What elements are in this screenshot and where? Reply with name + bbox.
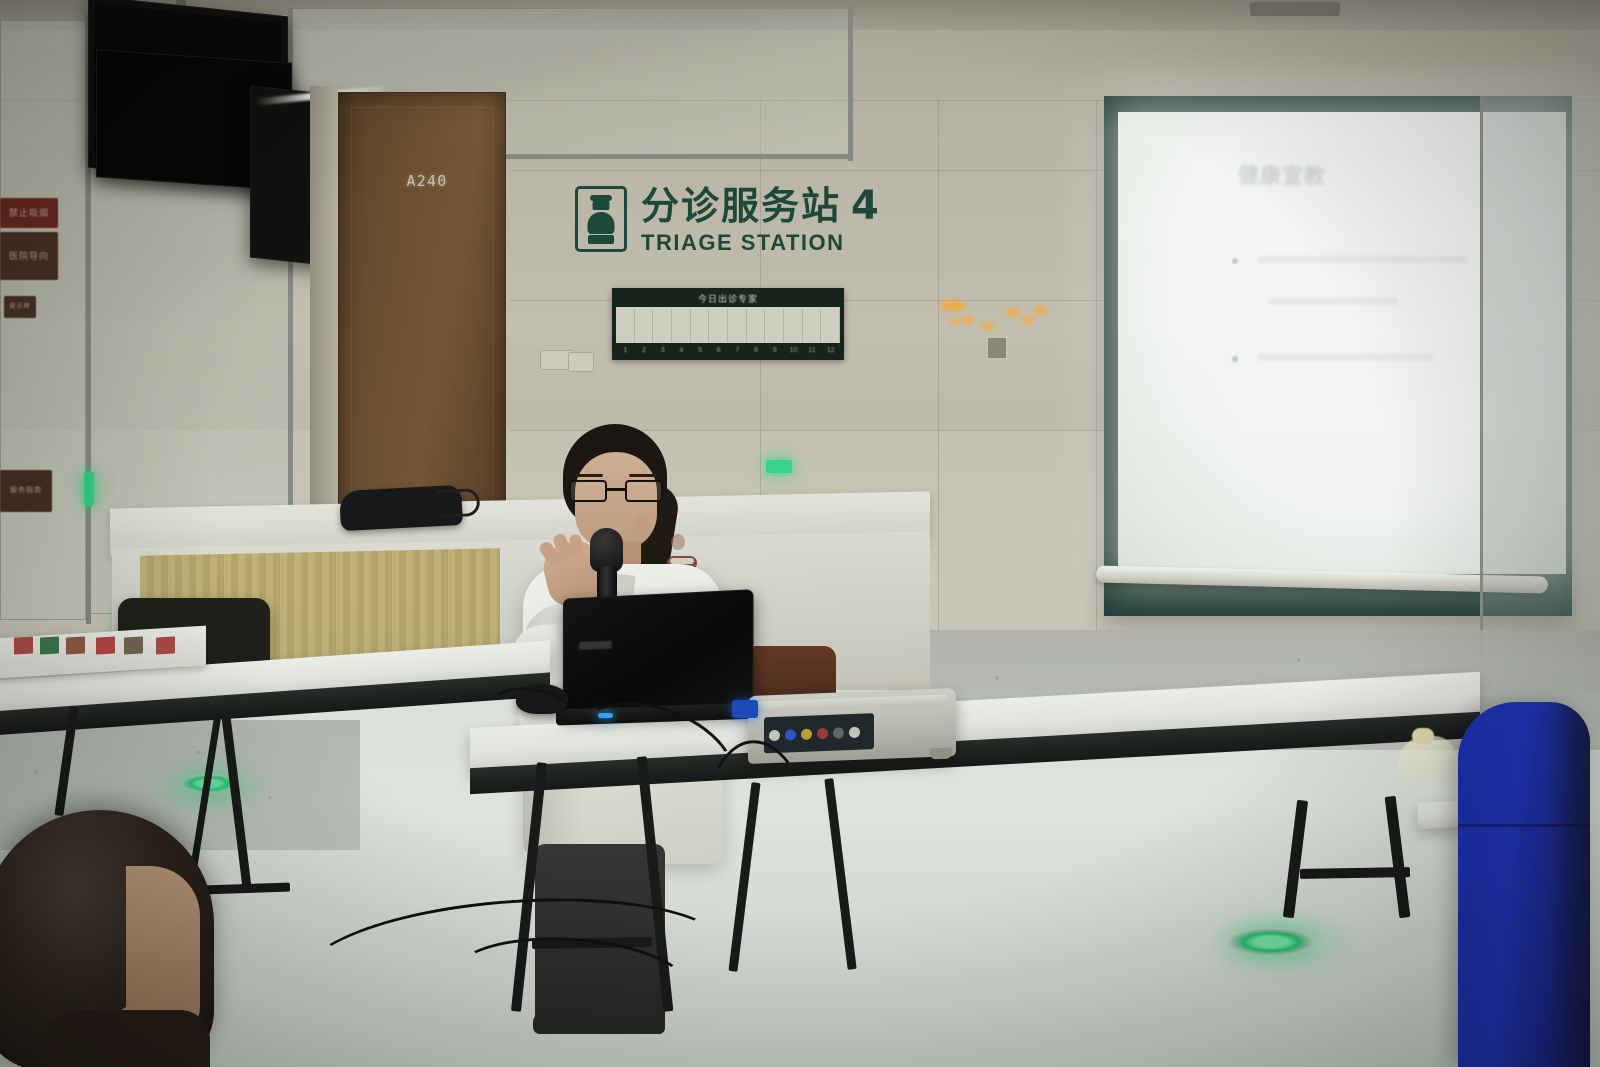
projector-port-panel — [764, 713, 874, 753]
wall-access-panel — [986, 336, 1008, 360]
ceiling-light-reflection — [1034, 306, 1047, 314]
photo-scene: 禁止吸烟 医院导向 提示牌 服务指南 A240 分诊服务站4 TRIAGE ST… — [0, 0, 1600, 1067]
triage-sign-english: TRIAGE STATION — [641, 230, 881, 256]
wall-sign-small: 提示牌 — [4, 296, 36, 318]
board-number: 5 — [691, 347, 710, 354]
board-number: 9 — [765, 347, 784, 354]
table-crossbar — [1300, 867, 1410, 879]
triage-sign-chinese: 分诊服务站4 — [641, 186, 881, 226]
slide-bullet-marker — [1232, 258, 1238, 264]
expert-board-numbers: 1 2 3 4 5 6 7 8 9 10 11 12 — [616, 343, 840, 357]
projector-port — [833, 727, 844, 738]
wall-sign-text: 提示牌 — [9, 304, 30, 311]
tile-seam — [1096, 100, 1097, 700]
brochure-photo — [40, 636, 59, 654]
ceiling-vent — [1250, 2, 1340, 16]
board-number: 2 — [635, 347, 654, 354]
expert-board-header: 今日出诊专家 — [614, 290, 842, 307]
slide-body-line — [1258, 354, 1433, 361]
projector-vga-plug — [732, 700, 758, 718]
floor-light — [1228, 928, 1314, 956]
ceiling-light-reflection — [950, 318, 960, 325]
brochure-photo — [156, 636, 175, 654]
board-number: 7 — [728, 347, 747, 354]
projector-port — [849, 726, 860, 737]
slide-body-line — [1268, 298, 1398, 305]
light-switch-plate[interactable] — [568, 352, 594, 372]
wall-sign-text: 禁止吸烟 — [9, 208, 49, 218]
triage-sign-cn-label: 分诊服务站 — [641, 184, 841, 228]
wall-sign-text: 服务指南 — [10, 487, 42, 495]
projector-foot — [930, 748, 952, 760]
chair-blue-right[interactable] — [1458, 702, 1590, 1067]
slide-bullet-marker — [1232, 356, 1238, 362]
brochure-photo — [124, 636, 143, 654]
foreground-audience-shoulder — [40, 1010, 210, 1067]
board-number: 1 — [616, 347, 635, 354]
brochure-photo — [14, 636, 33, 654]
wall-sign-red: 禁止吸烟 — [0, 198, 58, 228]
triage-station-sign: 分诊服务站4 TRIAGE STATION — [575, 186, 881, 256]
board-number: 4 — [672, 347, 691, 354]
glass-partition-panel — [0, 20, 86, 620]
presenter-ear — [635, 514, 649, 534]
door-frame — [310, 86, 338, 526]
presenter-eyebrow — [629, 474, 655, 477]
eyeglass-lens-left — [569, 480, 607, 502]
board-number: 3 — [653, 347, 672, 354]
door-number-plate: A240 — [392, 168, 462, 194]
door-panel — [351, 107, 493, 507]
eyeglasses — [569, 480, 663, 502]
backpack-on-counter — [339, 485, 463, 531]
ceiling-light-reflection — [982, 322, 994, 330]
presentation-laptop[interactable] — [563, 589, 754, 716]
slide-body-line — [1258, 256, 1468, 263]
exit-indicator-light — [84, 472, 94, 506]
brochure-photo — [66, 636, 85, 654]
wall-sign-text: 医院导向 — [9, 251, 49, 261]
wall-sign-bottom: 服务指南 — [0, 470, 52, 512]
ceiling-light-reflection — [940, 300, 966, 311]
door-a240[interactable] — [338, 92, 506, 522]
board-number: 8 — [747, 347, 766, 354]
ceiling-light-reflection — [1022, 316, 1034, 324]
wall-sign-brown: 医院导向 — [0, 232, 58, 280]
ceiling-light-reflection — [1006, 308, 1020, 317]
board-number: 12 — [821, 347, 840, 354]
laptop-brand-logo — [579, 641, 612, 650]
slide-title-text: 健康宣教 — [1238, 160, 1468, 190]
brochure-photo — [96, 636, 115, 654]
projector-port — [769, 729, 780, 740]
projector-port — [801, 728, 812, 739]
plastic-bag-knot — [1412, 728, 1434, 744]
presenter-nose — [671, 534, 685, 550]
board-number: 11 — [803, 347, 822, 354]
board-number: 10 — [784, 347, 803, 354]
eyeglass-bridge — [607, 488, 625, 491]
chair-shading — [1548, 702, 1590, 1067]
projector-port — [817, 727, 828, 738]
presenter-eyebrow — [577, 474, 603, 477]
ceiling-light-reflection — [962, 316, 974, 324]
projector-port — [785, 729, 796, 740]
exit-indicator-light — [766, 460, 792, 473]
today-expert-board: 今日出诊专家 1 2 3 4 5 6 7 8 9 10 11 12 — [612, 288, 844, 360]
plastic-bag — [1398, 736, 1456, 782]
glass-mullion — [848, 6, 853, 161]
eyeglass-lens-right — [625, 480, 663, 502]
expert-board-columns — [616, 309, 840, 345]
projector-top-ridge — [756, 694, 948, 711]
tile-seam — [938, 100, 939, 700]
nurse-triage-icon — [575, 186, 627, 252]
triage-sign-text: 分诊服务站4 TRIAGE STATION — [641, 186, 881, 256]
board-number: 6 — [709, 347, 728, 354]
glass-wall-right — [1480, 96, 1600, 656]
triage-station-number: 4 — [851, 183, 881, 229]
